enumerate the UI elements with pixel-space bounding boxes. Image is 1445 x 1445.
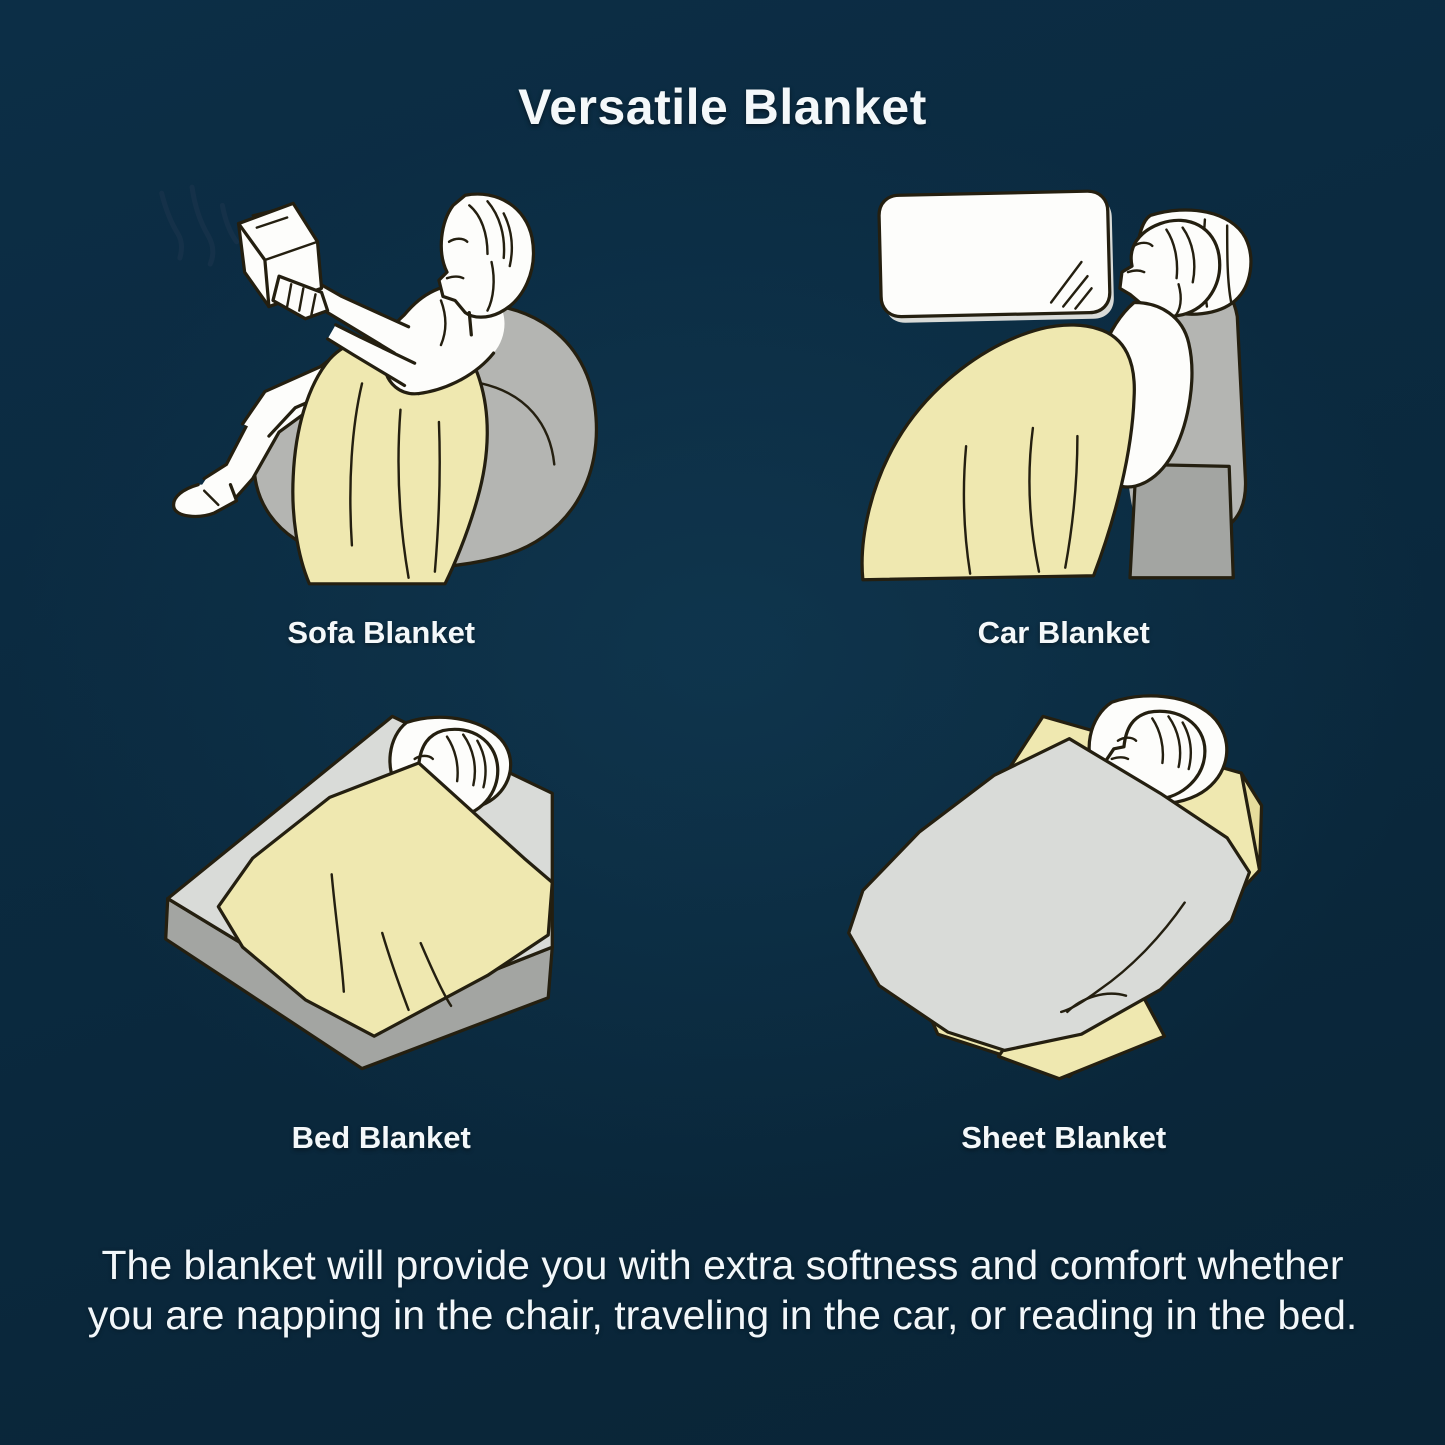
panel-bed-blanket: Bed Blanket [40,680,723,1185]
panel-grid: Sofa Blanket [40,175,1405,1185]
footer-caption: The blanket will provide you with extra … [48,1240,1397,1340]
car-window [879,191,1114,323]
caption-line-2: you are napping in the chair, traveling … [48,1290,1397,1340]
illustration-bed-blanket [40,680,723,1105]
panel-label-sofa-blanket: Sofa Blanket [40,615,723,651]
illustration-car-blanket [723,175,1406,600]
illustration-sheet-blanket [723,680,1406,1105]
infographic-page: Versatile Blanket [0,0,1445,1445]
panel-label-sheet-blanket: Sheet Blanket [723,1120,1406,1156]
blanket-yellow [862,325,1134,580]
caption-line-1: The blanket will provide you with extra … [48,1240,1397,1290]
panel-label-car-blanket: Car Blanket [723,615,1406,651]
panel-sheet-blanket: Sheet Blanket [723,680,1406,1185]
panel-sofa-blanket: Sofa Blanket [40,175,723,680]
panel-car-blanket: Car Blanket [723,175,1406,680]
illustration-sofa-blanket [40,175,723,600]
decorative-squiggle-icon [162,187,237,264]
page-title: Versatile Blanket [0,78,1445,136]
panel-label-bed-blanket: Bed Blanket [40,1120,723,1156]
